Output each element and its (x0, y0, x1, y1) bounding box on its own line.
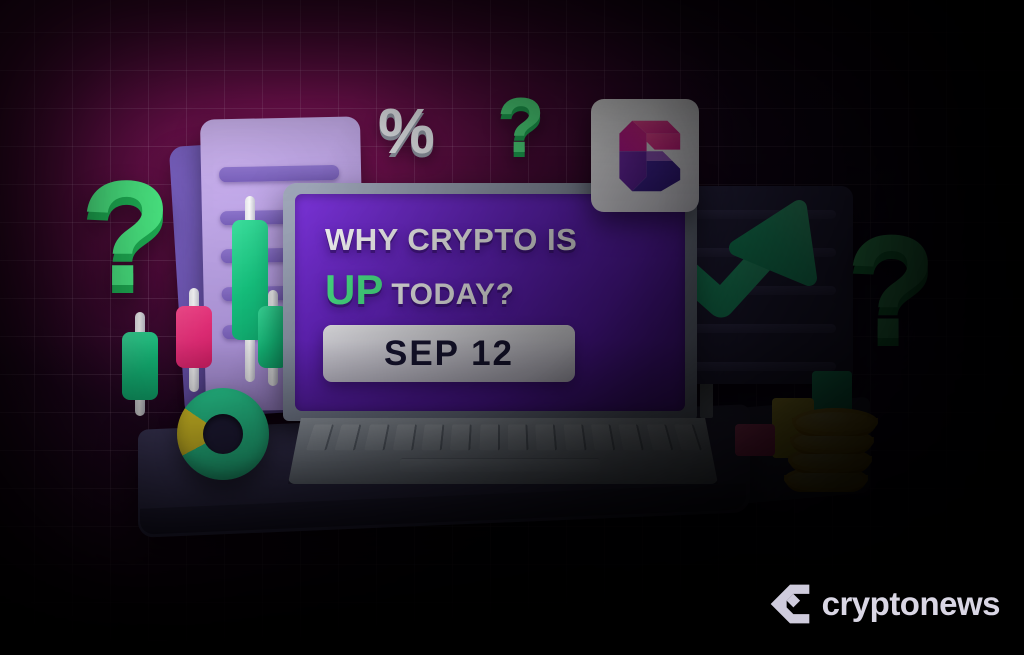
subheadline: UPTODAY? (325, 266, 514, 314)
donut-chart (177, 388, 269, 480)
keyboard-key (450, 424, 472, 450)
keyboard-key (646, 424, 673, 450)
cryptonews-brand: cryptonews (769, 583, 1000, 625)
question-mark-right-icon: ? (846, 214, 936, 362)
candlestick-2 (176, 288, 212, 396)
trend-panel-stand (700, 382, 713, 418)
question-mark-top-icon: ? (497, 86, 545, 164)
cryptonews-logo-tile (591, 99, 699, 212)
laptop-display: WHY CRYPTO IS UPTODAY? SEP 12 (295, 194, 685, 411)
laptop-trackpad (400, 458, 600, 472)
headline-highlight-word: UP (325, 266, 383, 313)
gold-coin-1 (792, 408, 878, 436)
laptop-screen: WHY CRYPTO IS UPTODAY? SEP 12 (283, 183, 697, 421)
keyboard-key (563, 424, 586, 450)
mini-bar-pink (735, 424, 775, 456)
headline-tail-word: TODAY? (391, 278, 514, 311)
headline-text: WHY CRYPTO IS (325, 222, 577, 258)
document-line (219, 165, 339, 183)
cryptonews-3d-mark-icon (605, 116, 685, 196)
date-badge: SEP 12 (323, 325, 575, 382)
keyboard-key (591, 424, 615, 450)
keyboard-key (364, 424, 390, 450)
keyboard-key (422, 424, 445, 450)
laptop-key-row (305, 424, 702, 452)
keyboard-key (508, 424, 529, 450)
question-mark-left-icon: ? (80, 158, 172, 308)
date-badge-label: SEP 12 (384, 334, 514, 374)
percent-symbol-icon: % (378, 99, 435, 163)
keyboard-key (619, 424, 645, 450)
candlestick-body-up (122, 332, 158, 400)
candlestick-1 (122, 312, 158, 420)
cryptonews-c-logo-icon (769, 583, 811, 625)
keyboard-key (479, 424, 500, 450)
coin-face (792, 408, 878, 436)
banner-canvas: WHY CRYPTO IS UPTODAY? SEP 12 (0, 0, 1024, 655)
keyboard-key (536, 424, 558, 450)
keyboard-key (335, 424, 362, 450)
keyboard-key (393, 424, 417, 450)
candlestick-body-down (176, 306, 212, 368)
brand-wordmark: cryptonews (822, 585, 1000, 623)
